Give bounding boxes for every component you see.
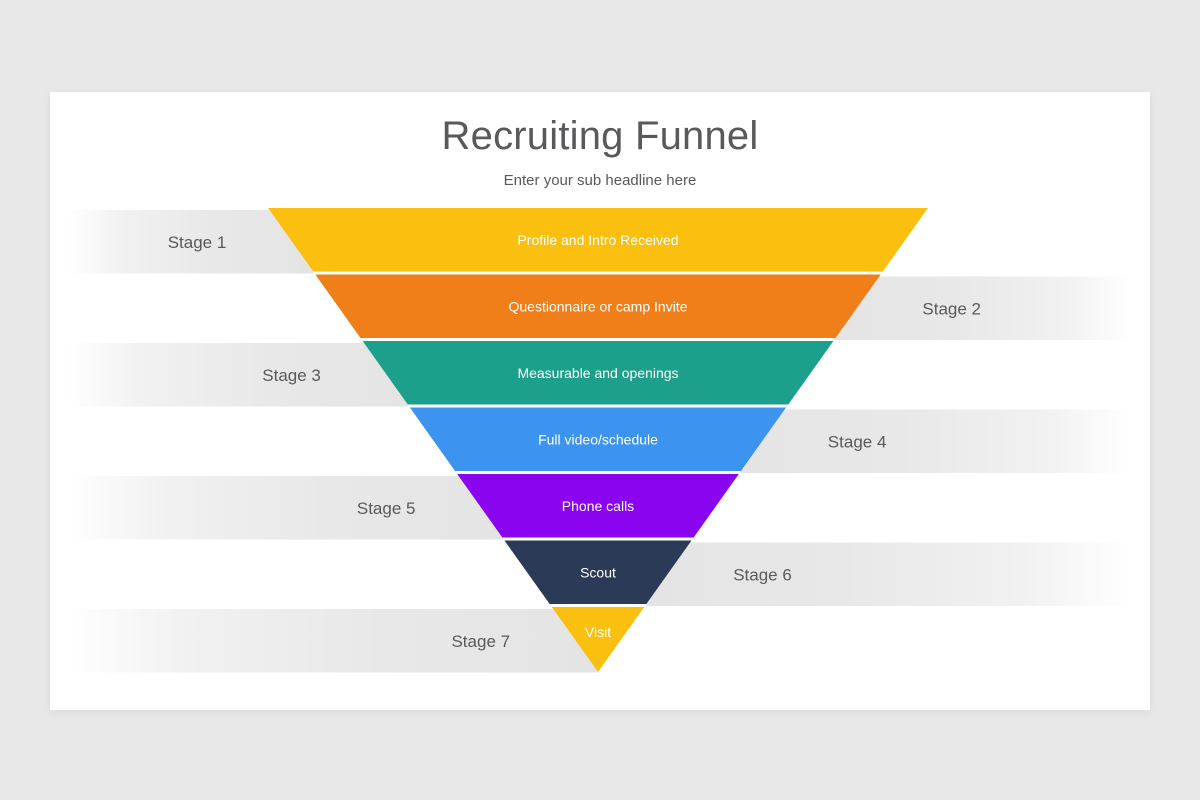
funnel-segment-label: Full video/schedule [538, 431, 658, 447]
funnel-segment-label: Profile and Intro Received [517, 232, 678, 248]
funnel-segment-label: Measurable and openings [517, 365, 678, 381]
funnel-segment-label: Phone calls [562, 498, 634, 514]
funnel-segment-label: Scout [580, 564, 616, 580]
stage-label: Stage 5 [357, 499, 416, 518]
stage-label-bar [834, 277, 1132, 341]
stage-label: Stage 3 [262, 366, 321, 385]
stage-label-bar [68, 609, 598, 673]
stage-label-bar [68, 476, 504, 540]
stage-label: Stage 7 [451, 632, 510, 651]
funnel-segment-label: Questionnaire or camp Invite [509, 298, 688, 314]
slide-canvas: Recruiting Funnel Enter your sub headlin… [0, 0, 1200, 800]
stage-label: Stage 6 [733, 565, 792, 584]
slide-card: Recruiting Funnel Enter your sub headlin… [50, 92, 1150, 710]
stage-label: Stage 2 [922, 299, 981, 318]
stage-label: Stage 4 [828, 432, 887, 451]
stage-label: Stage 1 [168, 233, 227, 252]
stage-label-bar [740, 410, 1132, 474]
funnel-chart: Stage 1Stage 2Stage 3Stage 4Stage 5Stage… [50, 92, 1150, 710]
stage-label-bar [645, 543, 1132, 607]
stage-label-bar [68, 343, 409, 407]
funnel-segment-label: Visit [585, 624, 611, 640]
